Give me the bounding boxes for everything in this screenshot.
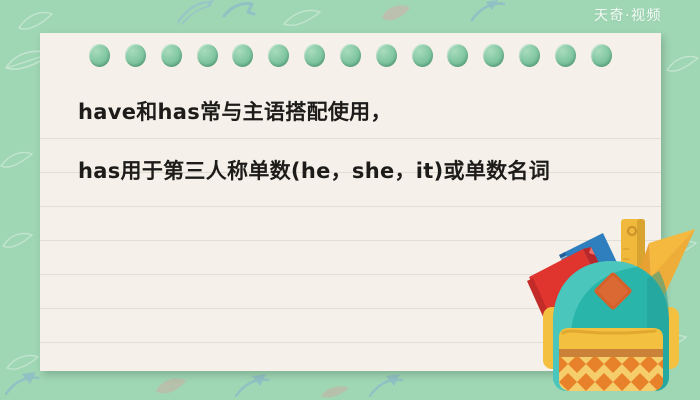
punch-hole-icon — [161, 44, 182, 67]
punch-hole-icon — [483, 44, 504, 67]
petal-doodle-bottom-center — [318, 384, 352, 400]
petal-doodle-bottom — [152, 375, 190, 399]
punch-hole-icon — [519, 44, 540, 67]
lesson-text-line-1: have和has常与主语搭配使用， — [78, 99, 638, 125]
pocket-flap-icon — [559, 328, 663, 357]
leaf-doodle-bottom-left — [6, 352, 40, 374]
petal-doodle-top-right — [378, 2, 414, 26]
leaf-doodle-left — [0, 148, 34, 172]
scribble-doodle-top — [176, 0, 222, 26]
punch-hole-icon — [89, 44, 110, 67]
slide-canvas: 天奇·视频 have和has常与主语搭配使用， has用于第三人称单数(he，s… — [0, 0, 700, 400]
scribble-doodle-bottom-right — [366, 374, 408, 400]
punch-hole-icon — [197, 44, 218, 67]
watermark-logo: 天奇·视频 — [594, 5, 662, 25]
punch-hole-icon — [447, 44, 468, 67]
punch-hole-icon — [340, 44, 361, 67]
spiral-hole-row — [40, 44, 661, 68]
punch-hole-icon — [412, 44, 433, 67]
punch-hole-icon — [268, 44, 289, 67]
leaf-doodle-right — [666, 52, 700, 76]
leaf-doodle-top-center — [282, 4, 322, 30]
scribble-doodle-bottom — [232, 372, 276, 400]
punch-hole-icon — [376, 44, 397, 67]
leaf-doodle-top-left-2 — [18, 8, 54, 34]
punch-hole-icon — [591, 44, 612, 67]
school-backpack-illustration — [525, 215, 700, 400]
punch-hole-icon — [125, 44, 146, 67]
punch-hole-icon — [232, 44, 253, 67]
pocket-lattice-icon — [541, 355, 676, 400]
leaf-doodle-left-2 — [2, 230, 34, 252]
scribble-doodle-top-right — [468, 0, 508, 24]
arrow-doodle-top — [222, 0, 256, 22]
lesson-text-line-2: has用于第三人称单数(he，she，it)或单数名词 — [78, 158, 638, 184]
lesson-text-block: have和has常与主语搭配使用， has用于第三人称单数(he，she，it)… — [78, 99, 638, 185]
punch-hole-icon — [304, 44, 325, 67]
scribble-doodle-bottom-left — [2, 368, 46, 398]
punch-hole-icon — [555, 44, 576, 67]
